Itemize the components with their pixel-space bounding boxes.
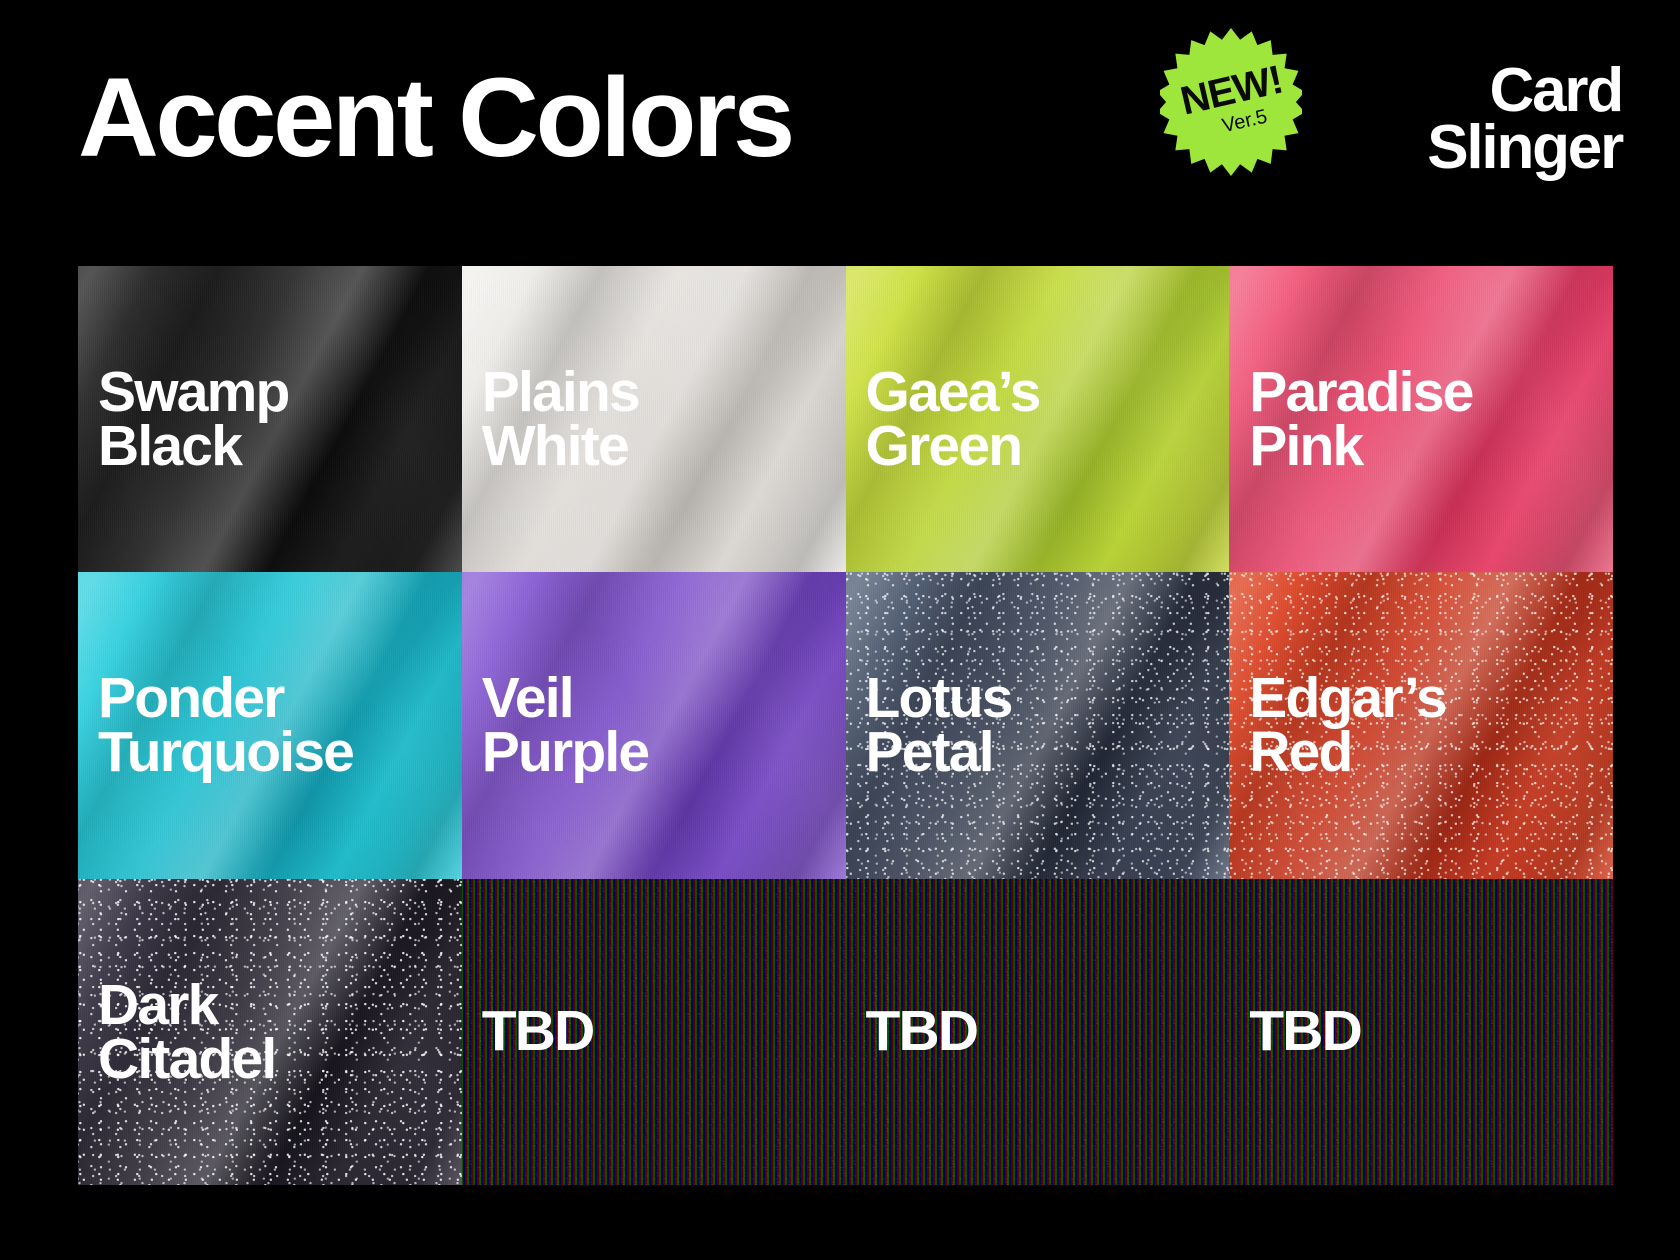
brand-line-card: Card xyxy=(1427,62,1622,119)
swatch-label: Paradise Pink xyxy=(1229,365,1472,473)
swatch-label: TBD xyxy=(846,1003,978,1060)
color-swatch[interactable]: TBD xyxy=(846,879,1230,1185)
swatch-label: Gaea’s Green xyxy=(846,365,1040,473)
swatch-label: Ponder Turquoise xyxy=(78,671,353,779)
color-swatch[interactable]: Edgar’s Red xyxy=(1229,572,1613,878)
brand-lockup: Card Slinger xyxy=(1427,62,1622,176)
color-swatch[interactable]: Plains White xyxy=(462,266,846,572)
badge-text-group: NEW! Ver.5 xyxy=(1145,14,1317,190)
color-swatch-grid: Swamp BlackPlains WhiteGaea’s GreenParad… xyxy=(78,266,1613,1185)
color-swatch[interactable]: Dark Citadel xyxy=(78,879,462,1185)
color-swatch[interactable]: Ponder Turquoise xyxy=(78,572,462,878)
swatch-label: Lotus Petal xyxy=(846,671,1012,779)
brand-line-slinger: Slinger xyxy=(1427,119,1622,176)
color-swatch[interactable]: TBD xyxy=(1229,879,1613,1185)
swatch-label: Edgar’s Red xyxy=(1229,671,1445,779)
color-swatch[interactable]: Veil Purple xyxy=(462,572,846,878)
new-version-badge: NEW! Ver.5 xyxy=(1160,28,1302,176)
swatch-label: Swamp Black xyxy=(78,365,289,473)
swatch-label: Plains White xyxy=(462,365,639,473)
color-swatch[interactable]: TBD xyxy=(462,879,846,1185)
color-swatch[interactable]: Lotus Petal xyxy=(846,572,1230,878)
color-swatch[interactable]: Swamp Black xyxy=(78,266,462,572)
swatch-label: TBD xyxy=(1229,1003,1361,1060)
color-swatch[interactable]: Paradise Pink xyxy=(1229,266,1613,572)
slide-canvas: Accent Colors NEW! Ver.5 Card Slinger Sw… xyxy=(0,0,1680,1260)
badge-new-label: NEW! xyxy=(1177,59,1286,121)
swatch-label: TBD xyxy=(462,1003,594,1060)
swatch-label: Veil Purple xyxy=(462,671,649,779)
swatch-label: Dark Citadel xyxy=(78,978,275,1086)
page-title: Accent Colors xyxy=(78,62,792,174)
color-swatch[interactable]: Gaea’s Green xyxy=(846,266,1230,572)
